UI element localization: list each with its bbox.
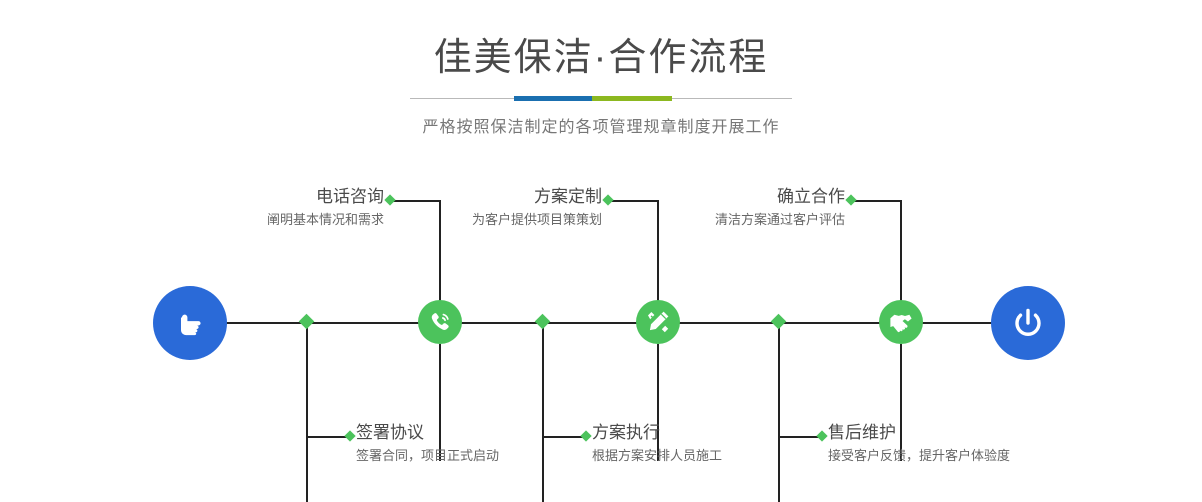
step-label-4: 方案执行 根据方案安排人员施工 xyxy=(592,422,852,466)
process-flow: 电话咨询 阐明基本情况和需求 签署协议 签署合同，项目正式启动 xyxy=(0,160,1202,502)
label-connector-horizontal-2 xyxy=(306,436,350,438)
step-title-1: 电话咨询 xyxy=(150,186,384,208)
title-divider xyxy=(410,96,792,101)
step-desc-3: 为客户提供项目策策划 xyxy=(368,210,602,230)
divider-segment-green xyxy=(592,96,672,101)
step-desc-5: 清洁方案通过客户评估 xyxy=(611,210,845,230)
step-title-2: 签署协议 xyxy=(356,422,616,444)
step-desc-2: 签署合同，项目正式启动 xyxy=(356,446,616,466)
step-desc-1: 阐明基本情况和需求 xyxy=(150,210,384,230)
flow-infographic-page: 佳美保洁·合作流程 严格按照保洁制定的各项管理规章制度开展工作 xyxy=(0,0,1202,502)
pointing-hand-icon xyxy=(170,303,210,343)
page-title: 佳美保洁·合作流程 xyxy=(0,0,1202,82)
axis-diamond-2 xyxy=(299,314,315,330)
step-title-6: 售后维护 xyxy=(828,422,1128,444)
step-connector-vertical-2 xyxy=(306,323,308,502)
handshake-icon xyxy=(888,309,914,335)
step-icon-5 xyxy=(879,300,923,344)
step-icon-3 xyxy=(636,300,680,344)
page-subtitle: 严格按照保洁制定的各项管理规章制度开展工作 xyxy=(0,113,1202,137)
step-label-6: 售后维护 接受客户反馈，提升客户体验度 xyxy=(828,422,1128,466)
page-header: 佳美保洁·合作流程 严格按照保洁制定的各项管理规章制度开展工作 xyxy=(0,0,1202,137)
divider-segment-blue xyxy=(514,96,592,101)
pencil-ruler-icon xyxy=(645,309,671,335)
step-title-3: 方案定制 xyxy=(368,186,602,208)
power-icon xyxy=(1007,302,1049,344)
step-connector-vertical-4 xyxy=(542,323,544,502)
step-title-4: 方案执行 xyxy=(592,422,852,444)
flow-end-node xyxy=(991,286,1065,360)
step-desc-4: 根据方案安排人员施工 xyxy=(592,446,852,466)
label-connector-vertical-5 xyxy=(900,200,902,301)
label-diamond-5 xyxy=(845,194,856,205)
step-label-3: 方案定制 为客户提供项目策策划 xyxy=(368,186,602,230)
axis-diamond-4 xyxy=(535,314,551,330)
label-diamond-2 xyxy=(344,430,355,441)
step-label-2: 签署协议 签署合同，项目正式启动 xyxy=(356,422,616,466)
step-label-5: 确立合作 清洁方案通过客户评估 xyxy=(611,186,845,230)
flow-start-node xyxy=(153,286,227,360)
step-desc-6: 接受客户反馈，提升客户体验度 xyxy=(828,446,1128,466)
axis-diamond-6 xyxy=(771,314,787,330)
step-label-1: 电话咨询 阐明基本情况和需求 xyxy=(150,186,384,230)
label-connector-horizontal-5 xyxy=(851,200,902,202)
phone-call-icon xyxy=(427,309,453,335)
step-icon-1 xyxy=(418,300,462,344)
step-title-5: 确立合作 xyxy=(611,186,845,208)
step-connector-vertical-6 xyxy=(778,323,780,502)
